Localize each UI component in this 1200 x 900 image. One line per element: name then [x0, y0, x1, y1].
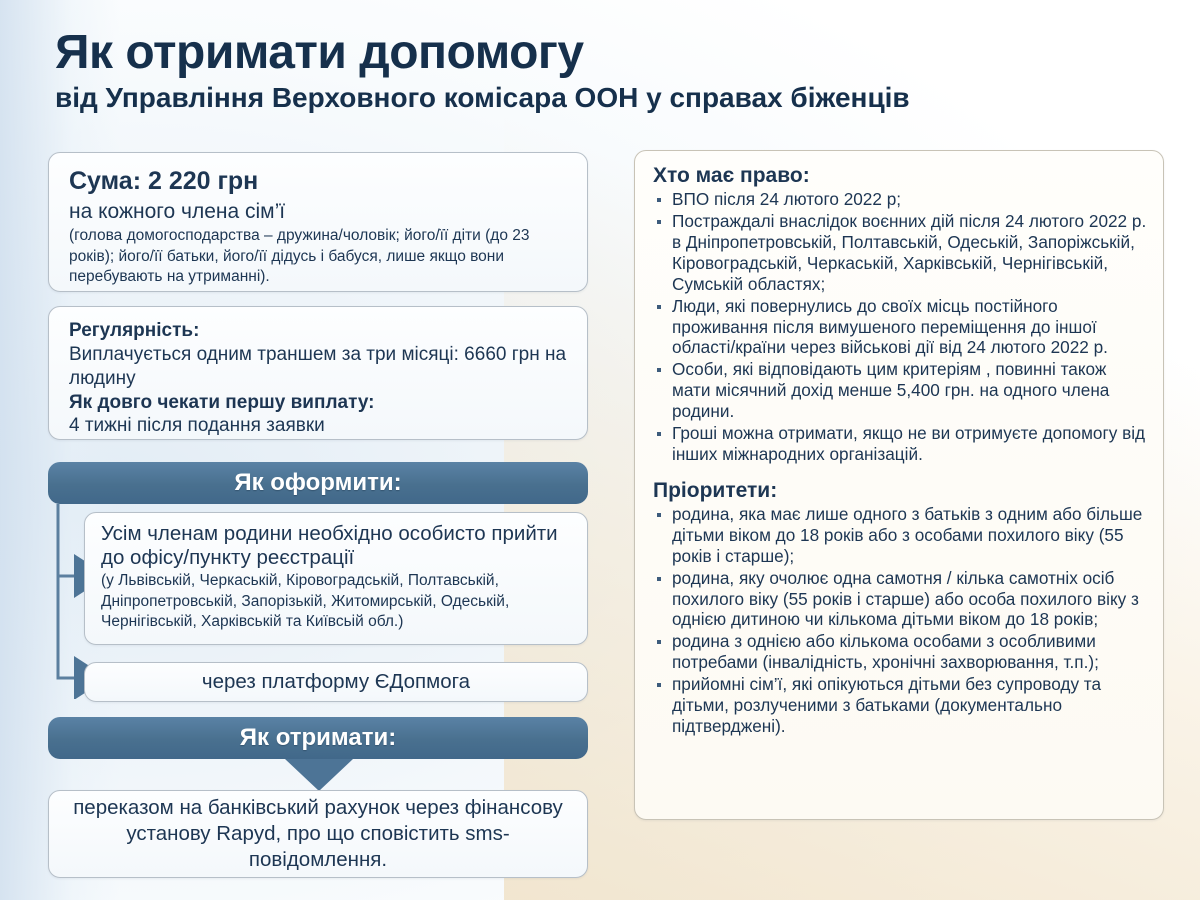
- amount-note: (голова домогосподарства – дружина/чолов…: [69, 226, 569, 288]
- platform-label: через платформу ЄДопмога: [202, 670, 470, 694]
- how-to-receive-banner-label: Як отримати:: [240, 724, 396, 752]
- infographic-sheet: Як отримати допомогу від Управління Верх…: [0, 0, 1200, 900]
- page-subtitle: від Управління Верховного комісара ООН у…: [55, 82, 1165, 114]
- how-to-receive-banner: Як отримати:: [48, 717, 588, 759]
- eligibility-list: ВПО після 24 лютого 2022 р;Постраждалі в…: [653, 189, 1147, 465]
- transfer-method-card: переказом на банківський рахунок через ф…: [48, 790, 588, 878]
- transfer-method-text: переказом на банківський рахунок через ф…: [71, 795, 565, 874]
- platform-card[interactable]: через платформу ЄДопмога: [84, 662, 588, 702]
- priorities-heading: Пріоритети:: [653, 478, 1147, 503]
- amount-card: Сума: 2 220 грн на кожного члена сім’ї (…: [48, 152, 588, 292]
- priorities-list-item: родина з однією або кількома особами з о…: [653, 631, 1147, 673]
- offices-main-text: Усім членам родини необхідно особисто пр…: [101, 522, 573, 570]
- page-title: Як отримати допомогу: [55, 28, 1165, 78]
- eligibility-heading: Хто має право:: [653, 163, 1147, 188]
- header: Як отримати допомогу від Управління Верх…: [55, 28, 1165, 114]
- eligibility-list-item: ВПО після 24 лютого 2022 р;: [653, 189, 1147, 210]
- priorities-list: родина, яка має лише одного з батьків з …: [653, 504, 1147, 737]
- priorities-list-item: родина, яку очолює одна самотня / кілька…: [653, 568, 1147, 631]
- eligibility-list-item: Постраждалі внаслідок воєнних дій після …: [653, 211, 1147, 295]
- eligibility-list-item: Гроші можна отримати, якщо не ви отримує…: [653, 423, 1147, 465]
- regularity-text: Виплачується одним траншем за три місяці…: [69, 343, 569, 391]
- priorities-list-item: родина, яка має лише одного з батьків з …: [653, 504, 1147, 567]
- priorities-list-item: прийомні сім’ї, які опікуються дітьми бе…: [653, 674, 1147, 737]
- how-to-apply-banner-label: Як оформити:: [234, 469, 401, 497]
- regularity-card: Регулярність: Виплачується одним траншем…: [48, 306, 588, 440]
- eligibility-panel: Хто має право: ВПО після 24 лютого 2022 …: [634, 150, 1164, 820]
- first-payment-text: 4 тижні після подання заявки: [69, 414, 569, 438]
- offices-card: Усім членам родини необхідно особисто пр…: [84, 512, 588, 645]
- amount-title: Сума: 2 220 грн: [69, 167, 569, 196]
- first-payment-heading: Як довго чекати першу виплату:: [69, 391, 569, 415]
- arrow-down-icon: [285, 759, 353, 791]
- eligibility-list-item: Особи, які відповідають цим критеріям , …: [653, 359, 1147, 422]
- offices-regions-note: (у Львівській, Черкаській, Кіровоградськ…: [101, 571, 573, 631]
- regularity-heading: Регулярність:: [69, 319, 569, 343]
- how-to-apply-banner: Як оформити:: [48, 462, 588, 504]
- eligibility-list-item: Люди, які повернулись до своїх місць пос…: [653, 296, 1147, 359]
- amount-subtitle: на кожного члена сім’ї: [69, 199, 569, 224]
